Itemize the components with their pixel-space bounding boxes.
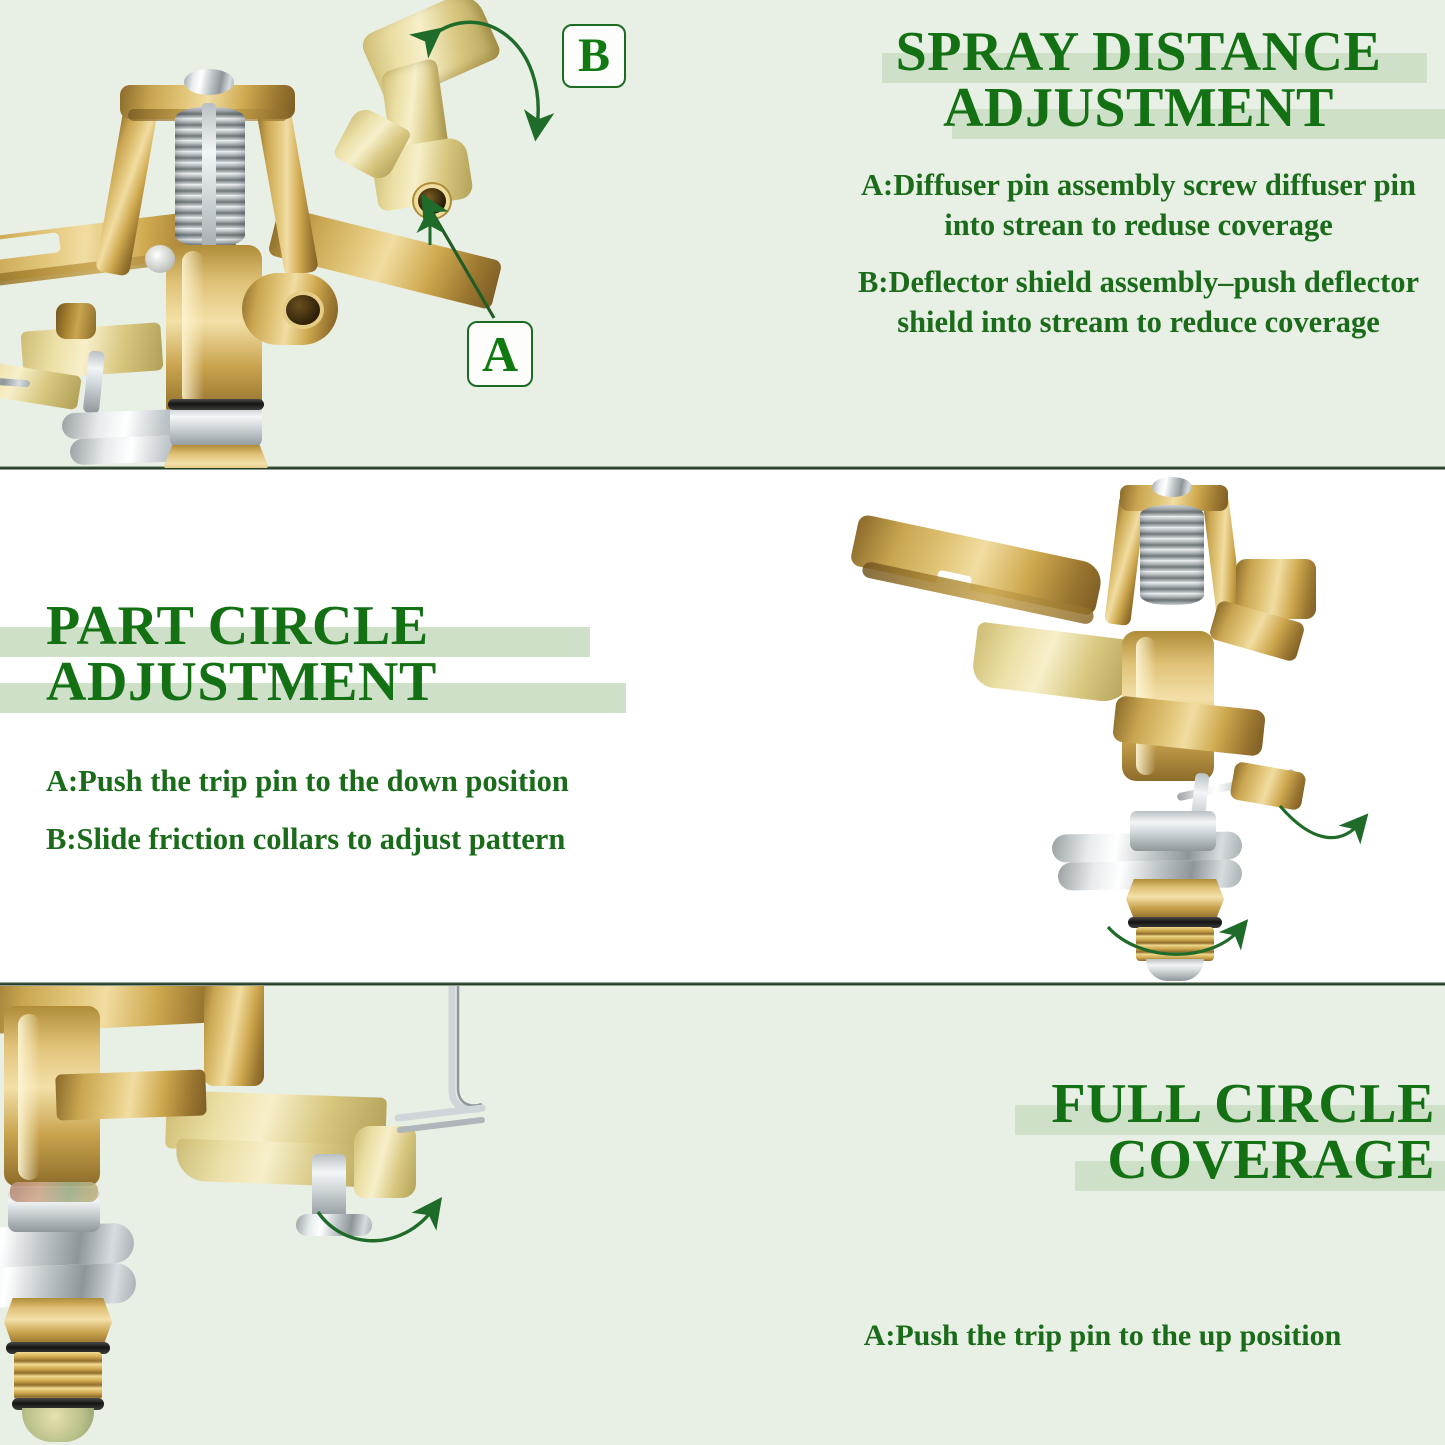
panel-3-title-line-1: FULL CIRCLE xyxy=(760,1076,1435,1132)
panel-2-title: PART CIRCLE ADJUSTMENT xyxy=(0,598,660,710)
sprinkler-image-panel-2 xyxy=(840,481,1310,971)
badge-a-panel-1-label: A xyxy=(482,329,518,379)
sprinkler-inlet-collar xyxy=(170,405,262,447)
sprinkler-image-panel-3 xyxy=(0,986,580,1445)
sprinkler-hex-nut xyxy=(164,445,268,468)
panel-2-body-line-a: A:Push the trip pin to the down position xyxy=(46,762,646,802)
panel-1-body-line-a: A:Diffuser pin assembly screw diffuser p… xyxy=(832,166,1445,245)
panel-2-body: A:Push the trip pin to the down position… xyxy=(0,762,646,859)
diffuser-pin-screw-hole xyxy=(418,188,446,214)
panel-full-circle-coverage: A FULL CIRCLE COVERAGE A:Push the trip p… xyxy=(0,986,1445,1445)
panel-2-title-line-2: ADJUSTMENT xyxy=(46,654,660,710)
panel-2-body-line-b: B:Slide friction collars to adjust patte… xyxy=(46,820,646,860)
sprinkler-inlet-collar-p2 xyxy=(1130,811,1216,851)
sprinkler-threaded-shank-p3 xyxy=(14,1352,102,1400)
wire-bail-p3 xyxy=(364,986,584,1160)
badge-b-panel-1-label: B xyxy=(578,32,610,80)
sprinkler-spring-p2 xyxy=(1140,505,1204,605)
trip-pin-p3 xyxy=(312,1154,346,1220)
sprinkler-image-panel-1 xyxy=(0,55,490,465)
panel-2-title-line-1: PART CIRCLE xyxy=(46,598,660,654)
sprinkler-impact-arm-pivot xyxy=(56,303,96,339)
sprinkler-upper-post-p3 xyxy=(204,986,264,1086)
panel-3-title: FULL CIRCLE COVERAGE xyxy=(760,1076,1445,1188)
sprinkler-bushing xyxy=(145,245,175,273)
deflector-paddle-p2 xyxy=(971,621,1138,704)
panel-spray-distance-adjustment: A B SPRAY DISTANCE ADJUSTMENT A:Diffuser… xyxy=(0,0,1445,468)
panel-part-circle-adjustment: A B PART CIRCLE ADJUSTMENT A:Push the tr… xyxy=(0,471,1445,983)
badge-b-panel-1: B xyxy=(562,24,626,88)
infographic-sheet: A B SPRAY DISTANCE ADJUSTMENT A:Diffuser… xyxy=(0,0,1445,1445)
sprinkler-body-barrel xyxy=(166,245,262,415)
trip-pin-collar-p3 xyxy=(296,1214,372,1236)
panel-1-title: SPRAY DISTANCE ADJUSTMENT xyxy=(832,24,1445,136)
sprinkler-yoke-right-post xyxy=(255,98,319,276)
panel-1-body-line-b: B:Deflector shield assembly–push deflect… xyxy=(832,263,1445,342)
sprinkler-threaded-shank-p2 xyxy=(1136,927,1214,961)
panel-1-title-line-1: SPRAY DISTANCE xyxy=(832,24,1445,80)
trip-lever-bracket-p3 xyxy=(55,1069,207,1120)
panel-3-body-line-a: A:Push the trip pin to the up position xyxy=(760,1316,1445,1355)
text-block-panel-2: PART CIRCLE ADJUSTMENT A:Push the trip p… xyxy=(0,598,660,859)
text-block-panel-1: SPRAY DISTANCE ADJUSTMENT A:Diffuser pin… xyxy=(832,24,1445,343)
sprinkler-oring-upper xyxy=(168,399,264,410)
sprinkler-hex-nut-p3 xyxy=(4,1298,112,1346)
sprinkler-nozzle-bore xyxy=(286,295,320,325)
badge-a-panel-1: A xyxy=(467,321,533,387)
sprinkler-hex-nut-p2 xyxy=(1126,879,1224,919)
panel-3-body: A:Push the trip pin to the up position xyxy=(760,1316,1445,1355)
panel-3-title-line-2: COVERAGE xyxy=(760,1132,1435,1188)
text-block-panel-3: FULL CIRCLE COVERAGE A:Push the trip pin… xyxy=(760,1076,1445,1355)
sprinkler-top-cap-screw-p2 xyxy=(1152,477,1192,497)
trip-lever-plate-lower-p3 xyxy=(175,1139,376,1188)
sprinkler-body-highlight xyxy=(182,251,204,406)
trip-pin-lever-p2 xyxy=(1229,761,1307,811)
sprinkler-body-highlight-p3 xyxy=(18,1014,40,1180)
panel-1-title-line-2: ADJUSTMENT xyxy=(832,80,1445,136)
sprinkler-inlet-screen-p3 xyxy=(22,1408,94,1442)
panel-1-body: A:Diffuser pin assembly screw diffuser p… xyxy=(832,166,1445,343)
sprinkler-inlet-screen-p2 xyxy=(1146,959,1204,981)
sprinkler-inlet-corrosion-p3 xyxy=(10,1182,98,1202)
sprinkler-top-cap-screw xyxy=(184,69,234,95)
